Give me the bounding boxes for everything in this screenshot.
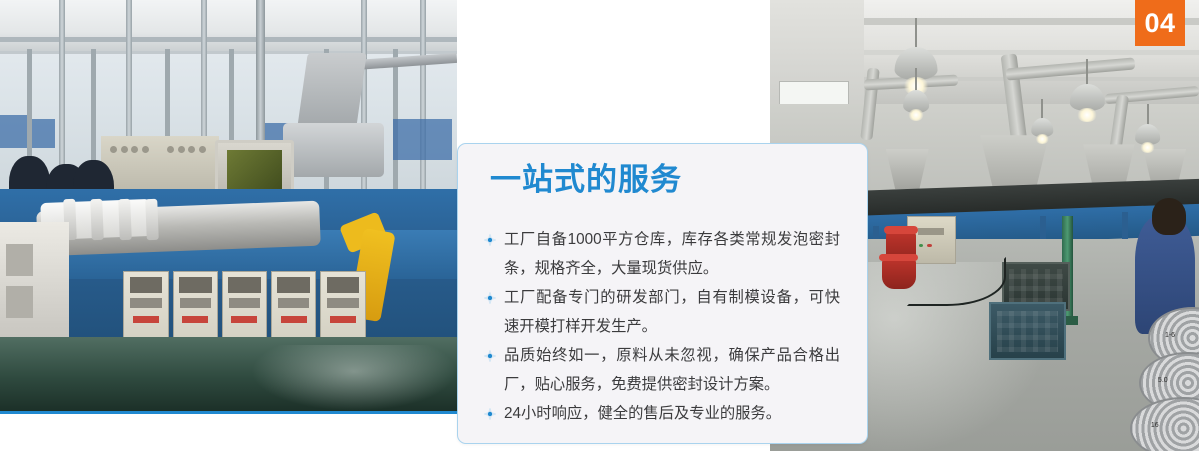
window-pane	[393, 119, 452, 160]
target-dot-icon	[484, 292, 496, 304]
pendant-lamp	[1135, 104, 1161, 149]
list-item-label: 工厂配备专门的研发部门，自有制模设备，可快速开模打样开发生产。	[504, 289, 840, 335]
exhaust-hood	[283, 123, 384, 176]
left-photo-bottom-margin	[0, 414, 457, 451]
feature-list: 工厂自备1000平方仓库，库存各类常规发泡密封条，规格齐全，大量现货供应。 工厂…	[484, 225, 840, 428]
pendant-lamp	[1070, 59, 1104, 118]
step-number-badge: 04	[1135, 0, 1185, 46]
banner-stage: 1-6 5.0 16 04 一站式的服务 工厂自备1000平方仓库，库存各类常	[0, 0, 1199, 451]
list-item-label: 品质始终如一，原料从未忽视，确保产品合格出厂，贴心服务，免费提供密封设计方案。	[504, 347, 840, 393]
target-dot-icon	[484, 408, 496, 420]
window-mullion	[59, 0, 65, 189]
list-item: 24小时响应，健全的售后及专业的服务。	[484, 399, 840, 428]
factory-extrusion-line-photo	[0, 0, 457, 414]
floor-reflection	[251, 345, 457, 411]
storage-crate	[989, 302, 1066, 360]
photo-ceiling	[0, 0, 457, 53]
window-mullion	[420, 0, 426, 189]
list-item-label: 24小时响应，健全的售后及专业的服务。	[504, 405, 781, 422]
foreground-white-machine	[0, 222, 69, 345]
list-item: 品质始终如一，原料从未忽视，确保产品合格出厂，贴心服务，免费提供密封设计方案。	[484, 341, 840, 399]
pendant-lamp	[1032, 99, 1053, 140]
pendant-lamp	[903, 68, 929, 118]
back-cabinet	[101, 136, 220, 194]
step-number-label: 04	[1144, 10, 1175, 37]
feature-card: 一站式的服务 工厂自备1000平方仓库，库存各类常规发泡密封条，规格齐全，大量现…	[457, 143, 868, 444]
list-item-label: 工厂自备1000平方仓库，库存各类常规发泡密封条，规格齐全，大量现货供应。	[504, 231, 840, 277]
target-dot-icon	[484, 350, 496, 362]
list-item: 工厂自备1000平方仓库，库存各类常规发泡密封条，规格齐全，大量现货供应。	[484, 225, 840, 283]
target-dot-icon	[484, 234, 496, 246]
list-item: 工厂配备专门的研发部门，自有制模设备，可快速开模打样开发生产。	[484, 283, 840, 341]
worker-figure	[1152, 198, 1186, 234]
window-pane	[0, 115, 27, 148]
window-pane	[32, 119, 55, 148]
ceiling-beam	[0, 37, 457, 42]
card-title: 一站式的服务	[490, 163, 682, 197]
